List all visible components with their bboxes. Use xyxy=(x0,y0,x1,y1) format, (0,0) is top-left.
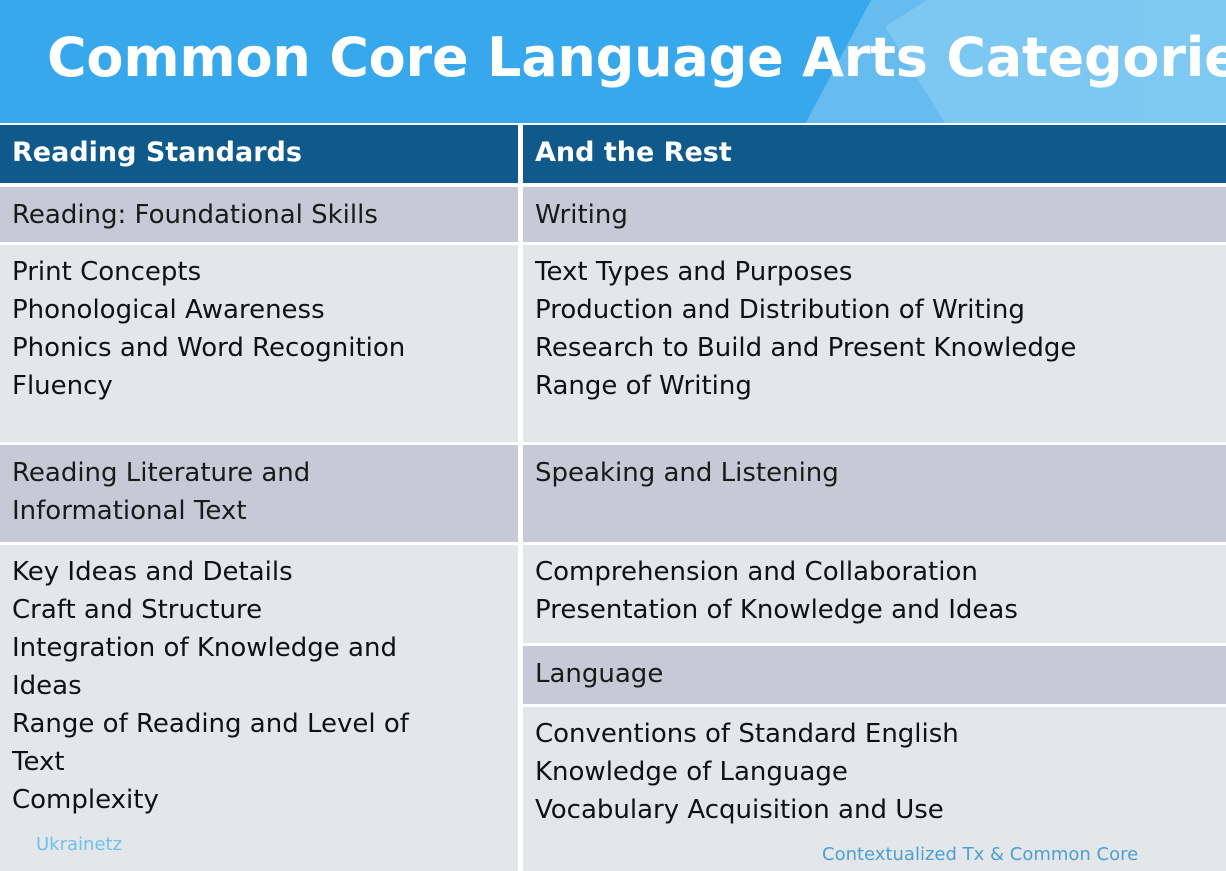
list-item: Vocabulary Acquisition and Use xyxy=(535,791,1214,829)
subheader-reading-literature-informational-text: Reading Literature and Informational Tex… xyxy=(0,445,518,542)
subheader-label: Language xyxy=(535,655,1214,693)
table-column-and-the-rest: And the Rest Writing Text Types and Purp… xyxy=(523,125,1226,871)
subheader-speaking-and-listening: Speaking and Listening xyxy=(523,445,1226,542)
subheader-label-line: Reading Literature and xyxy=(12,454,506,492)
cell-writing-items: Text Types and Purposes Production and D… xyxy=(523,245,1226,442)
subheader-language: Language xyxy=(523,646,1226,704)
categories-table: Reading Standards Reading: Foundational … xyxy=(0,125,1226,871)
list-item: Knowledge of Language xyxy=(535,753,1214,791)
list-item: Conventions of Standard English xyxy=(535,715,1214,753)
table-column-reading-standards: Reading Standards Reading: Foundational … xyxy=(0,125,518,871)
subheader-reading-foundational-skills: Reading: Foundational Skills xyxy=(0,187,518,242)
list-item: Production and Distribution of Writing xyxy=(535,291,1214,329)
list-item: Range of Writing xyxy=(535,367,1214,405)
list-item: Presentation of Knowledge and Ideas xyxy=(535,591,1214,629)
column-header-and-the-rest: And the Rest xyxy=(523,125,1226,183)
cell-reading-literature-items: Key Ideas and Details Craft and Structur… xyxy=(0,545,518,871)
list-item: Print Concepts xyxy=(12,253,506,291)
subheader-label: Speaking and Listening xyxy=(535,454,1214,492)
title-band: Common Core Language Arts Categories xyxy=(0,0,1226,123)
list-item: Ideas xyxy=(12,667,506,705)
cell-reading-foundational-skills-items: Print Concepts Phonological Awareness Ph… xyxy=(0,245,518,442)
cell-speaking-listening-items: Comprehension and Collaboration Presenta… xyxy=(523,545,1226,643)
list-item: Text Types and Purposes xyxy=(535,253,1214,291)
list-item: Text xyxy=(12,743,506,781)
list-item: Phonological Awareness xyxy=(12,291,506,329)
list-item: Phonics and Word Recognition xyxy=(12,329,506,367)
slide: Common Core Language Arts Categories Rea… xyxy=(0,0,1226,871)
credit-source: Contextualized Tx & Common Core xyxy=(822,844,1138,865)
credit-author: Ukrainetz xyxy=(36,834,122,855)
list-item: Craft and Structure xyxy=(12,591,506,629)
list-item: Range of Reading and Level of xyxy=(12,705,506,743)
list-item: Integration of Knowledge and xyxy=(12,629,506,667)
list-item: Complexity xyxy=(12,781,506,819)
slide-title: Common Core Language Arts Categories xyxy=(47,26,1226,89)
subheader-label-line: Informational Text xyxy=(12,492,506,530)
subheader-writing: Writing xyxy=(523,187,1226,242)
list-item: Comprehension and Collaboration xyxy=(535,553,1214,591)
subheader-label: Writing xyxy=(535,196,1214,234)
list-item: Fluency xyxy=(12,367,506,405)
column-header-reading-standards: Reading Standards xyxy=(0,125,518,183)
list-item: Key Ideas and Details xyxy=(12,553,506,591)
list-item: Research to Build and Present Knowledge xyxy=(535,329,1214,367)
subheader-label: Reading: Foundational Skills xyxy=(12,196,506,234)
